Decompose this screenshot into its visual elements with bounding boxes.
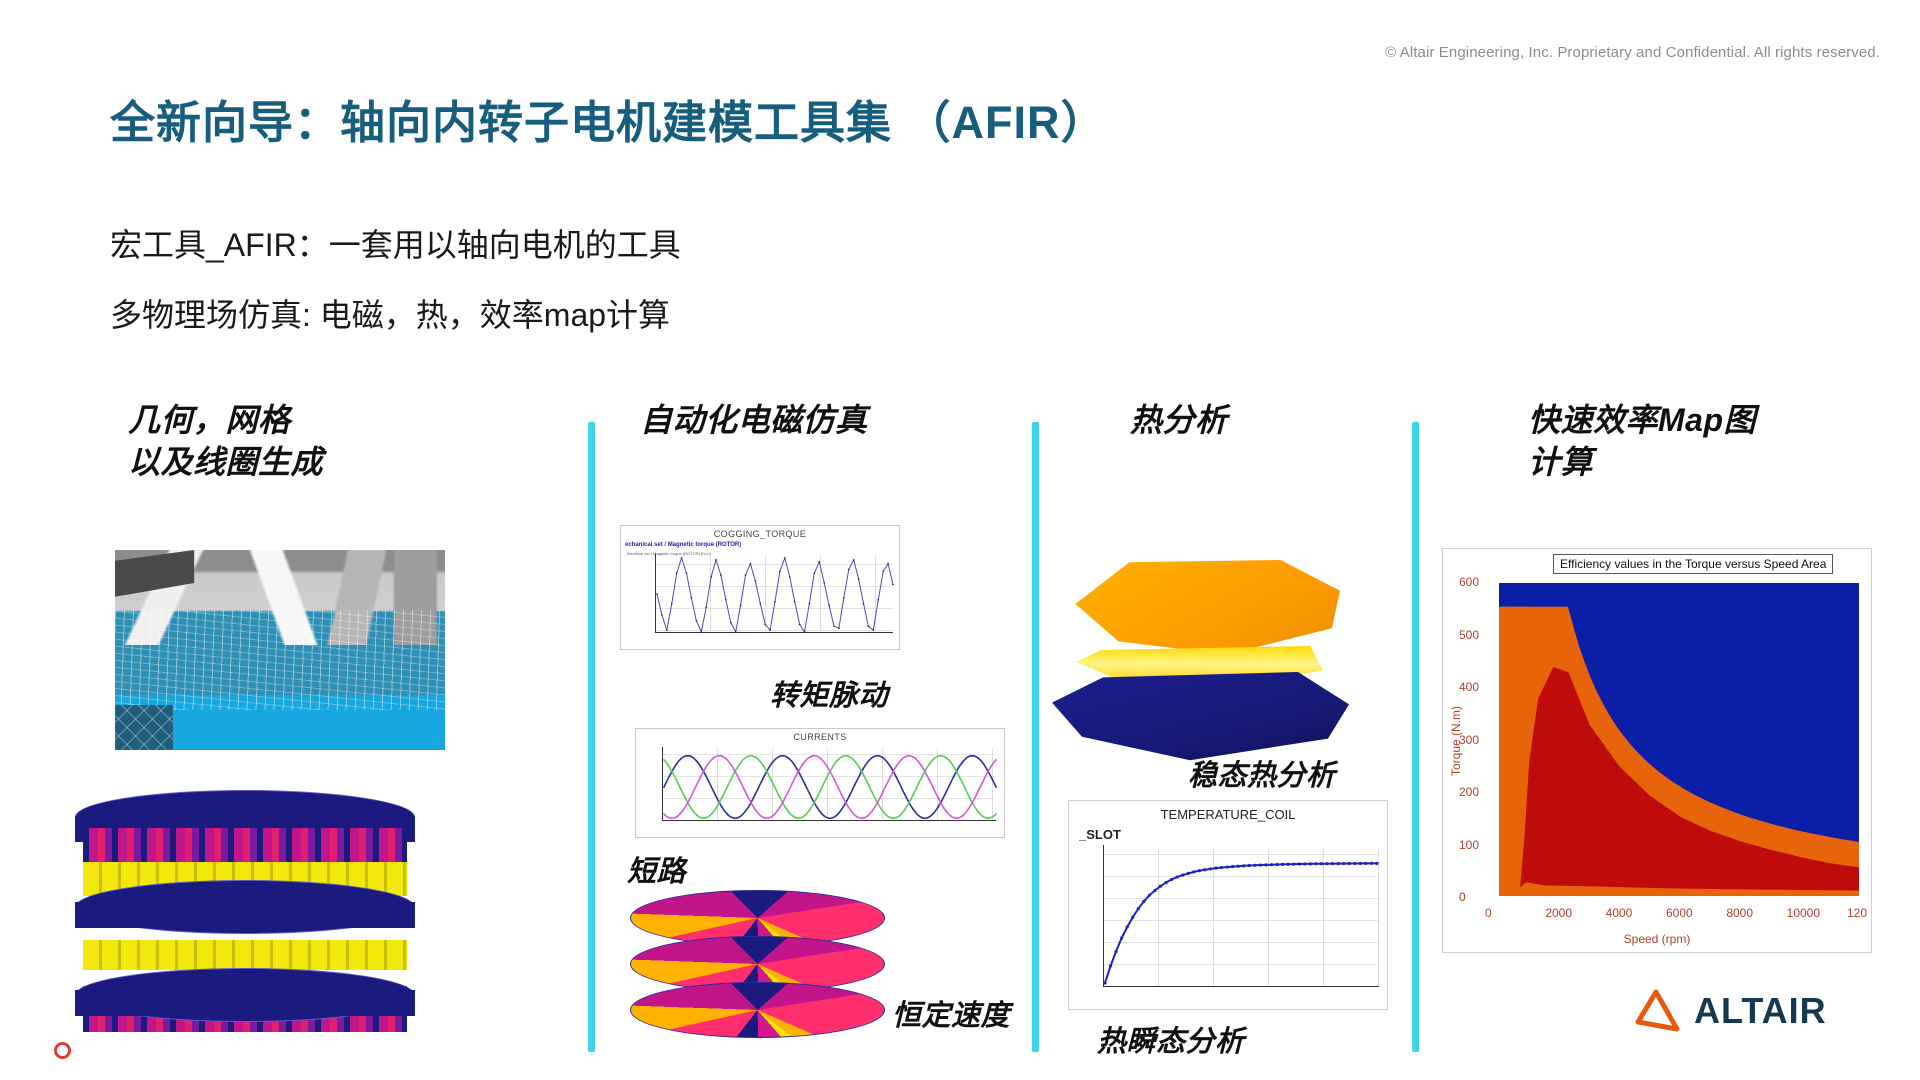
caption-steady-state-thermal: 稳态热分析 <box>1188 752 1336 794</box>
subtitle-line-2: 多物理场仿真: 电磁，热，效率map计算 <box>110 290 670 336</box>
motor-disc-side-2 <box>75 902 415 928</box>
efficiency-map-xtick: 6000 <box>1666 906 1693 920</box>
page-title: 全新向导：轴向内转子电机建模工具集 （AFIR） <box>110 86 1107 151</box>
column-divider-2 <box>1032 422 1039 1052</box>
axial-motor-stack-image <box>75 790 425 1035</box>
slide-root: © Altair Engineering, Inc. Proprietary a… <box>0 0 1920 1080</box>
column-divider-1 <box>588 422 595 1052</box>
cogging-torque-chart: COGGING_TORQUE echanical set / Magnetic … <box>620 525 900 650</box>
efficiency-map-ytick: 400 <box>1459 680 1479 694</box>
altair-wordmark: ALTAIR <box>1694 990 1827 1032</box>
temperature-coil-chart: TEMPERATURE_COIL _SLOT <box>1068 800 1388 1010</box>
flux-disc-3 <box>630 982 885 1038</box>
efficiency-map-xtick: 2000 <box>1545 906 1572 920</box>
steady-state-thermal-image <box>1040 560 1370 760</box>
slide-marker-dot <box>54 1042 71 1059</box>
subtitle-line-1: 宏工具_AFIR：一套用以轴向电机的工具 <box>110 220 681 266</box>
motor-disc-side-3 <box>75 990 415 1016</box>
efficiency-map-ytick: 0 <box>1459 890 1466 904</box>
efficiency-map-regions <box>1499 583 1859 896</box>
caption-constant-speed: 恒定速度 <box>892 992 1010 1034</box>
efficiency-map-ytick: 200 <box>1459 785 1479 799</box>
caption-short-circuit: 短路 <box>627 848 686 890</box>
efficiency-map-xtick: 120 <box>1847 906 1867 920</box>
mesh-lower-left-block <box>115 705 173 750</box>
efficiency-map-ytick: 100 <box>1459 838 1479 852</box>
efficiency-map-title: Efficiency values in the Torque versus S… <box>1553 554 1833 574</box>
column-heading-4: 快速效率Map图 计算 <box>1528 400 1908 483</box>
efficiency-map-xtick: 0 <box>1485 906 1492 920</box>
flux-density-discs-image <box>630 890 900 1040</box>
efficiency-map-xtick: 4000 <box>1606 906 1633 920</box>
coil-band-2 <box>83 940 407 970</box>
efficiency-map-xtick: 8000 <box>1726 906 1753 920</box>
efficiency-map-chart: Efficiency values in the Torque versus S… <box>1442 548 1872 953</box>
efficiency-map-plot-area <box>1499 583 1859 896</box>
altair-logo: ALTAIR <box>1632 982 1862 1040</box>
column-heading-2: 自动化电磁仿真 <box>640 400 1000 442</box>
temperature-coil-series <box>1069 801 1388 1010</box>
currents-series <box>636 729 1005 838</box>
efficiency-map-ytick: 600 <box>1459 575 1479 589</box>
efficiency-map-xtick: 10000 <box>1787 906 1820 920</box>
copyright-notice: © Altair Engineering, Inc. Proprietary a… <box>1385 44 1880 61</box>
efficiency-map-ytick: 500 <box>1459 628 1479 642</box>
cogging-torque-series <box>621 526 900 650</box>
caption-thermal-transient: 热瞬态分析 <box>1097 1018 1245 1060</box>
efficiency-map-ytick: 300 <box>1459 733 1479 747</box>
currents-chart: CURRENTS <box>635 728 1005 838</box>
altair-triangle-icon <box>1632 989 1680 1033</box>
thermal-bottom-base <box>1052 672 1352 762</box>
caption-torque-ripple: 转矩脉动 <box>770 672 888 714</box>
column-heading-1: 几何，网格 以及线圈生成 <box>128 400 568 483</box>
column-heading-3: 热分析 <box>1130 400 1430 442</box>
efficiency-map-xlabel: Speed (rpm) <box>1443 932 1871 946</box>
